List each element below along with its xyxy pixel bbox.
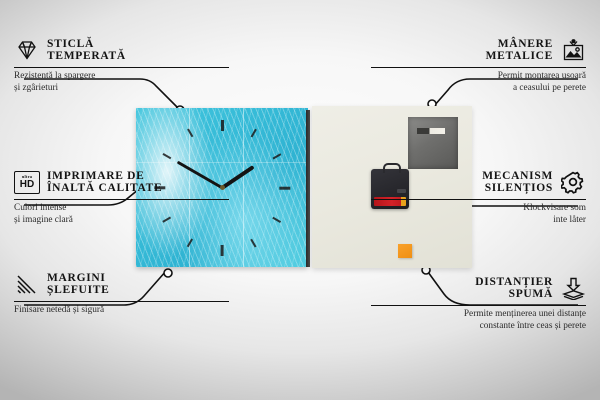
callout-rule <box>14 301 229 303</box>
polished-edge-icon <box>14 272 40 296</box>
callout-rule <box>14 199 229 201</box>
callout-margini-slefuite: MARGINI ȘLEFUITE Finisare netedă și sigu… <box>14 272 229 317</box>
callout-title-line2: ȘLEFUITE <box>47 284 109 296</box>
callout-title-line1: MÂNERE <box>498 38 553 50</box>
foam-spacer <box>398 244 412 258</box>
diamond-icon <box>14 38 40 62</box>
clock-tick <box>221 245 224 256</box>
callout-title-line1: STICLĂ <box>47 38 126 50</box>
hanger-slot <box>417 128 445 134</box>
callout-manere-metalice: MÂNERE METALICE Permit montarea ușoară a… <box>371 38 586 95</box>
clock-tick <box>273 153 282 159</box>
callout-subtitle: Permite menținerea unei distanțe constan… <box>371 309 586 332</box>
callout-title-line2: TEMPERATĂ <box>47 50 126 62</box>
metal-hanger-plate <box>408 117 458 169</box>
callout-mecanism-silentios: MECANISM SILENȚIOS Klockvisare som inte … <box>371 170 586 227</box>
clock-tick <box>163 153 172 159</box>
callout-title-line1: IMPRIMARE DE <box>47 170 162 182</box>
callout-subtitle: Rezistentă la spargere și zgârieturi <box>14 71 229 94</box>
callout-imprimare-inalta-calitate: ultra HD IMPRIMARE DE ÎNALTĂ CALITATE Cu… <box>14 170 229 227</box>
callout-sticla-temperata: STICLĂ TEMPERATĂ Rezistentă la spargere … <box>14 38 229 95</box>
callout-subtitle: Permit montarea ușoară a ceasului pe per… <box>371 71 586 94</box>
clock-tick <box>273 216 282 222</box>
callout-rule <box>371 67 586 69</box>
panel-edge-shadow <box>306 110 310 267</box>
ultra-hd-badge-icon: ultra HD <box>14 170 40 194</box>
hd-badge-large-text: HD <box>20 180 34 190</box>
callout-subtitle: Finisare netedă și sigură <box>14 305 229 317</box>
callout-rule <box>14 67 229 69</box>
callout-title-line2: ÎNALTĂ CALITATE <box>47 182 162 194</box>
clock-tick <box>251 238 257 247</box>
clock-tick <box>187 128 193 137</box>
gear-icon <box>560 170 586 194</box>
callout-title-line2: SILENȚIOS <box>485 182 553 194</box>
clock-tick <box>221 120 224 131</box>
wall-mount-frame-icon <box>560 38 586 62</box>
clock-tick <box>280 186 291 189</box>
clock-tick <box>251 128 257 137</box>
infographic-canvas: STICLĂ TEMPERATĂ Rezistentă la spargere … <box>0 0 600 400</box>
callout-title-line2: METALICE <box>486 50 553 62</box>
callout-rule <box>371 305 586 307</box>
callout-title-line1: MARGINI <box>47 272 109 284</box>
callout-subtitle: Culori intense și imagine clară <box>14 203 229 226</box>
callout-subtitle: Klockvisare som inte låter <box>371 203 586 226</box>
clock-tick <box>187 238 193 247</box>
callout-title-line2: SPUMĂ <box>509 288 553 300</box>
callout-rule <box>371 199 586 201</box>
callout-title-line1: DISTANȚIER <box>475 276 553 288</box>
callout-title-line1: MECANISM <box>482 170 553 182</box>
press-down-pad-icon <box>560 276 586 300</box>
callout-distantier-spuma: DISTANȚIER SPUMĂ Permite menținerea unei… <box>371 276 586 333</box>
